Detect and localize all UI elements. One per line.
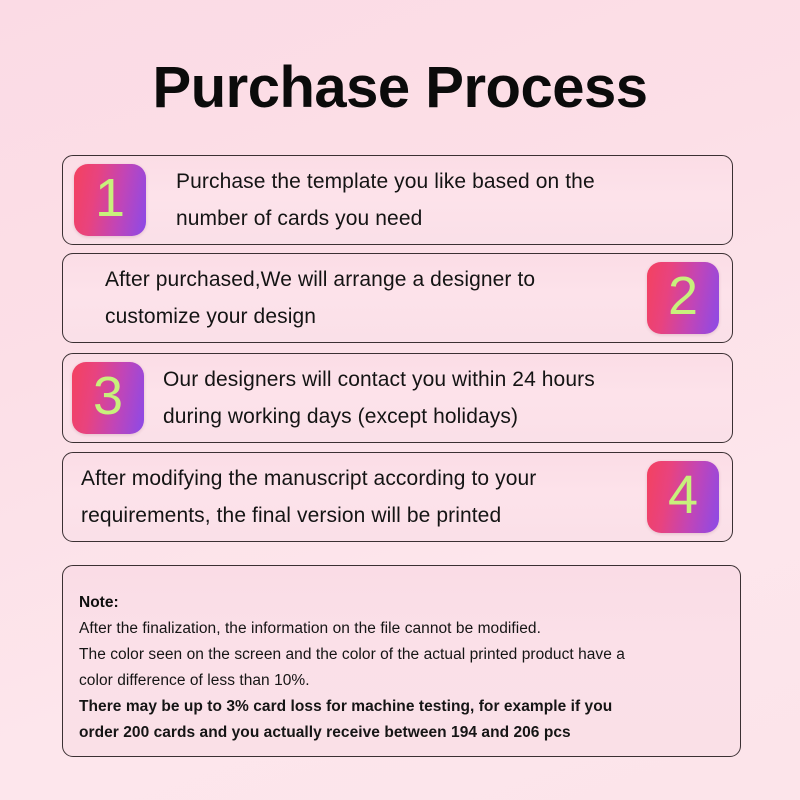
step-item-1: 1 Purchase the template you like based o… [62, 155, 733, 245]
note-line-1: After the finalization, the information … [79, 616, 720, 642]
page-title: Purchase Process [0, 58, 800, 119]
step-text-1: Purchase the template you like based on … [176, 163, 595, 237]
step-number-3: 3 [93, 369, 123, 423]
step-text-3: Our designers will contact you within 24… [163, 361, 595, 435]
purchase-process-infographic: Purchase Process 1 Purchase the template… [0, 0, 800, 800]
step-item-2: After purchased,We will arrange a design… [62, 253, 733, 343]
step-item-4: After modifying the manuscript according… [62, 452, 733, 542]
note-line-3: color difference of less than 10%. [79, 668, 720, 694]
step-text-line-1: Our designers will contact you within 24… [163, 361, 595, 398]
note-line-5: order 200 cards and you actually receive… [79, 720, 720, 746]
step-number-1: 1 [95, 171, 125, 225]
step-number-badge-4: 4 [647, 461, 719, 533]
step-text-line-1: After modifying the manuscript according… [81, 460, 536, 497]
step-text-line-2: customize your design [105, 298, 535, 335]
step-text-line-2: during working days (except holidays) [163, 398, 595, 435]
note-box: Note: After the finalization, the inform… [62, 565, 741, 757]
step-number-badge-3: 3 [72, 362, 144, 434]
step-number-badge-1: 1 [74, 164, 146, 236]
step-number-2: 2 [668, 269, 698, 323]
step-text-line-2: number of cards you need [176, 200, 595, 237]
step-number-4: 4 [668, 468, 698, 522]
step-text-line-2: requirements, the final version will be … [81, 497, 536, 534]
step-text-4: After modifying the manuscript according… [81, 460, 536, 534]
step-item-3: 3 Our designers will contact you within … [62, 353, 733, 443]
note-heading: Note: [79, 590, 720, 616]
note-line-4: There may be up to 3% card loss for mach… [79, 694, 720, 720]
step-text-2: After purchased,We will arrange a design… [105, 261, 535, 335]
note-line-2: The color seen on the screen and the col… [79, 642, 720, 668]
step-text-line-1: After purchased,We will arrange a design… [105, 261, 535, 298]
step-text-line-1: Purchase the template you like based on … [176, 163, 595, 200]
step-number-badge-2: 2 [647, 262, 719, 334]
